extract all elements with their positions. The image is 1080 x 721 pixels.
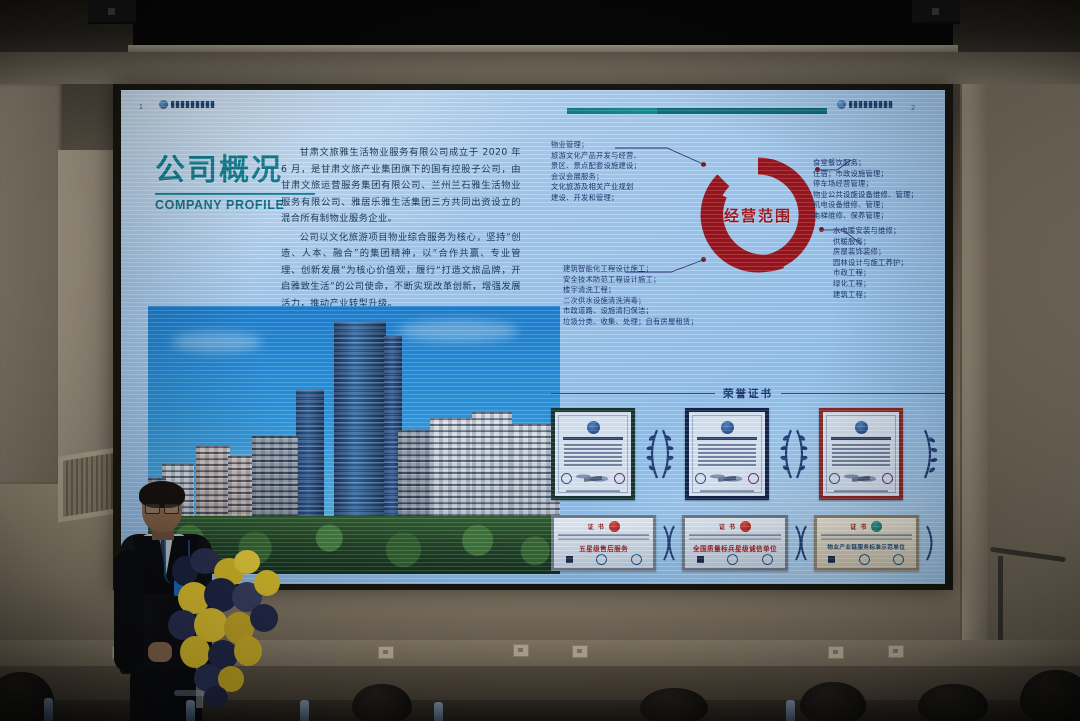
certificate-stamps bbox=[689, 473, 765, 484]
stamp-icon bbox=[561, 473, 572, 484]
wall-outlet bbox=[378, 646, 394, 659]
certificate-footer-line bbox=[700, 490, 754, 492]
audience-head bbox=[352, 684, 412, 721]
scope-item: 建设、开发和管理； bbox=[551, 193, 641, 204]
logo-wordmark bbox=[171, 101, 215, 108]
honor-section-header: 荣誉证书 bbox=[551, 386, 945, 401]
scope-item: 会议会展服务； bbox=[551, 172, 641, 183]
residential-block bbox=[472, 412, 512, 522]
plaque-header: 证 书 bbox=[685, 521, 784, 532]
plaque-qr-icon bbox=[828, 556, 835, 563]
scope-item: 市政工程； bbox=[833, 268, 908, 279]
plaque-footer bbox=[685, 554, 784, 565]
scope-item: 物业公共设施设备维修、管理； bbox=[813, 190, 918, 201]
certificate-iso-3 bbox=[819, 408, 903, 500]
wall-outlet bbox=[572, 645, 588, 658]
wall-outlet bbox=[513, 644, 529, 657]
laurel-divider-icon bbox=[643, 425, 677, 483]
stamp-icon bbox=[614, 473, 625, 484]
plaque-header-left: 证 书 bbox=[588, 522, 605, 531]
stamp-icon bbox=[829, 473, 840, 484]
wall-outlet bbox=[828, 646, 844, 659]
connector-dot bbox=[819, 227, 824, 232]
plaque-seal-icon bbox=[859, 554, 870, 565]
ceiling-speaker-right bbox=[912, 0, 960, 24]
certificate-stamps bbox=[823, 473, 899, 484]
plaque-seal-icon bbox=[727, 554, 738, 565]
certificate-row-top bbox=[551, 408, 945, 500]
wall-panel-left-outer bbox=[0, 84, 62, 484]
cloud bbox=[398, 320, 518, 342]
plaque-footer bbox=[817, 554, 916, 565]
plaque-award-name: 全国质量标兵星级诚信单位 bbox=[685, 543, 784, 553]
secondary-tower bbox=[296, 390, 324, 522]
scope-item: 住宿；市政设施管理； bbox=[813, 169, 918, 180]
plaque-footer bbox=[554, 554, 653, 565]
logo-mark-icon bbox=[837, 100, 846, 109]
floral-arrangement bbox=[168, 548, 298, 708]
award-plaque-2: 证 书 全国质量标兵星级诚信单位 bbox=[682, 515, 787, 571]
laurel-divider-icon bbox=[919, 523, 945, 563]
ceiling-slab bbox=[133, 0, 953, 48]
page-number-right: 2 bbox=[911, 105, 915, 112]
wall-column-right bbox=[962, 84, 988, 721]
scope-item: 食堂餐饮服务； bbox=[813, 158, 918, 169]
award-plaque-1: 证 书 五星级售后服务 bbox=[551, 515, 656, 571]
plaque-line bbox=[821, 534, 912, 536]
stamp-icon bbox=[748, 473, 759, 484]
scope-item: 安全技术防范工程设计施工； bbox=[563, 275, 698, 286]
scope-center-label: 经营范围 bbox=[699, 156, 817, 274]
scope-group-top-right: 食堂餐饮服务； 住宿；市政设施管理； 停车场经营管理； 物业公共设施设备维修、管… bbox=[813, 158, 918, 222]
plaque-line bbox=[821, 538, 912, 540]
scope-item: 电梯维修、保养管理； bbox=[813, 211, 918, 222]
certificate-stamps bbox=[555, 473, 631, 484]
scope-item: 水电暖安装与维修； bbox=[833, 226, 908, 237]
plaque-line bbox=[558, 534, 649, 536]
wall-soffit bbox=[0, 52, 1080, 84]
header-rule-left bbox=[551, 393, 715, 394]
laurel-divider-icon bbox=[911, 425, 945, 483]
scope-group-bottom-right: 水电暖安装与维修； 供暖服务； 房屋装饰装修； 园林设计与施工养护； 市政工程；… bbox=[833, 226, 908, 300]
plaque-line bbox=[689, 534, 780, 536]
profile-paragraph-1: 甘肃文旅雅生活物业服务有限公司成立于 2020 年 6 月，是甘肃文旅产业集团旗… bbox=[281, 145, 521, 228]
laurel-divider-icon bbox=[788, 523, 814, 563]
signature-mark bbox=[718, 476, 736, 482]
water-bottle bbox=[186, 700, 195, 721]
logo-wordmark bbox=[849, 101, 893, 108]
presenter-arm bbox=[114, 550, 144, 672]
business-scope-diagram: 经营范围 物业管理； 旅游文化产品开发与经营、 景区、景点配套设施建设； 会议会… bbox=[551, 134, 945, 384]
honor-certificates-section: 荣誉证书 bbox=[551, 386, 945, 576]
signature-mark bbox=[852, 476, 870, 482]
plaque-award-name: 五星级售后服务 bbox=[554, 543, 653, 553]
page-number-left: 1 bbox=[139, 104, 143, 111]
plaque-header: 证 书 bbox=[817, 521, 916, 532]
scope-item: 市政道路、设施清扫保洁； bbox=[563, 306, 698, 317]
award-plaque-3: 证 书 物业产业链服务标准示范单位 bbox=[814, 515, 919, 571]
plaque-seal-icon bbox=[631, 554, 642, 565]
header-rule-right bbox=[781, 393, 945, 394]
scope-item: 供暖服务； bbox=[833, 237, 908, 248]
presenter-glasses-icon bbox=[145, 504, 179, 512]
plaque-seal-icon bbox=[893, 554, 904, 565]
wall-outlet bbox=[888, 645, 904, 658]
stamp-icon bbox=[882, 473, 893, 484]
plaque-header-left: 证 书 bbox=[850, 522, 867, 531]
residential-block bbox=[252, 436, 298, 522]
plaque-award-name: 物业产业链服务标准示范单位 bbox=[817, 543, 916, 551]
stamp-icon bbox=[695, 473, 706, 484]
ceiling-speaker-left bbox=[88, 0, 136, 24]
certificate-footer-line bbox=[834, 490, 888, 492]
scope-ring-graphic: 经营范围 bbox=[699, 156, 817, 274]
scope-item: 文化旅游及相关产业规划 bbox=[551, 182, 641, 193]
wall-panel-left-inner bbox=[58, 150, 114, 490]
plaque-header-left: 证 书 bbox=[719, 522, 736, 531]
slide-header: 1 2 bbox=[121, 90, 945, 130]
projection-screen: 1 2 公司概况 COMPANY PROFILE 甘肃文旅雅生活物业服务有限公司… bbox=[121, 90, 945, 584]
water-bottle bbox=[434, 702, 443, 721]
scope-item: 楼宇清洗工程； bbox=[563, 285, 698, 296]
scope-item: 房屋装饰装修； bbox=[833, 247, 908, 258]
company-logo-right bbox=[837, 100, 893, 109]
water-bottle bbox=[786, 700, 795, 721]
residential-block bbox=[398, 430, 432, 522]
water-bottle bbox=[300, 700, 309, 721]
scope-group-top-left: 物业管理； 旅游文化产品开发与经营、 景区、景点配套设施建设； 会议会展服务； … bbox=[551, 140, 641, 204]
screenshot-scene: 1 2 公司概况 COMPANY PROFILE 甘肃文旅雅生活物业服务有限公司… bbox=[0, 0, 1080, 721]
certificate-row-bottom: 证 书 五星级售后服务 bbox=[551, 514, 945, 572]
plaque-qr-icon bbox=[566, 556, 573, 563]
scope-item: 二次供水设施清洗消毒； bbox=[563, 296, 698, 307]
certificate-iso-1 bbox=[551, 408, 635, 500]
signature-mark bbox=[584, 476, 602, 482]
plaque-header: 证 书 bbox=[554, 521, 653, 532]
scope-item: 园林设计与施工养护； bbox=[833, 258, 908, 269]
header-accent-bar-solid bbox=[657, 108, 827, 114]
water-bottle bbox=[44, 698, 53, 721]
certificate-footer-line bbox=[566, 490, 620, 492]
company-profile-text: 甘肃文旅雅生活物业服务有限公司成立于 2020 年 6 月，是甘肃文旅产业集团旗… bbox=[281, 145, 521, 314]
plaque-line bbox=[689, 538, 780, 540]
scope-item: 机电设备维修、管理； bbox=[813, 200, 918, 211]
certificate-iso-2 bbox=[685, 408, 769, 500]
scope-item: 旅游文化产品开发与经营、 bbox=[551, 151, 641, 162]
plaque-emblem-icon bbox=[740, 521, 751, 532]
scope-item: 物业管理； bbox=[551, 140, 641, 151]
residential-block bbox=[228, 456, 254, 522]
profile-paragraph-2: 公司以文化旅游项目物业综合服务为核心，坚持“创造、人本、融合”的集团精神，以“合… bbox=[281, 230, 521, 313]
scope-group-bottom-left: 建筑智能化工程设计施工； 安全技术防范工程设计施工； 楼宇清洗工程； 二次供水设… bbox=[563, 264, 698, 328]
audience-head bbox=[800, 682, 866, 721]
plaque-qr-icon bbox=[697, 556, 704, 563]
laurel-divider-icon bbox=[777, 425, 811, 483]
laurel-divider-icon bbox=[656, 523, 682, 563]
plaque-emblem-icon bbox=[609, 521, 620, 532]
scope-item: 建筑工程； bbox=[833, 290, 908, 301]
scope-item: 垃圾分类、收集、处理；自有房屋租赁； bbox=[563, 317, 698, 328]
cloud bbox=[172, 332, 262, 352]
plaque-seal-icon bbox=[762, 554, 773, 565]
honor-heading-text: 荣誉证书 bbox=[723, 386, 773, 401]
residential-block bbox=[430, 418, 474, 522]
scope-item: 停车场经营管理； bbox=[813, 179, 918, 190]
scope-item: 景区、景点配套设施建设； bbox=[551, 161, 641, 172]
audience-head bbox=[918, 684, 988, 721]
plaque-line bbox=[558, 538, 649, 540]
plaque-seal-icon bbox=[596, 554, 607, 565]
scope-item: 绿化工程； bbox=[833, 279, 908, 290]
audience-head bbox=[640, 688, 708, 721]
main-tower bbox=[334, 322, 386, 522]
scope-item: 建筑智能化工程设计施工； bbox=[563, 264, 698, 275]
company-logo-left bbox=[159, 100, 215, 109]
plaque-emblem-icon bbox=[871, 521, 882, 532]
logo-mark-icon bbox=[159, 100, 168, 109]
